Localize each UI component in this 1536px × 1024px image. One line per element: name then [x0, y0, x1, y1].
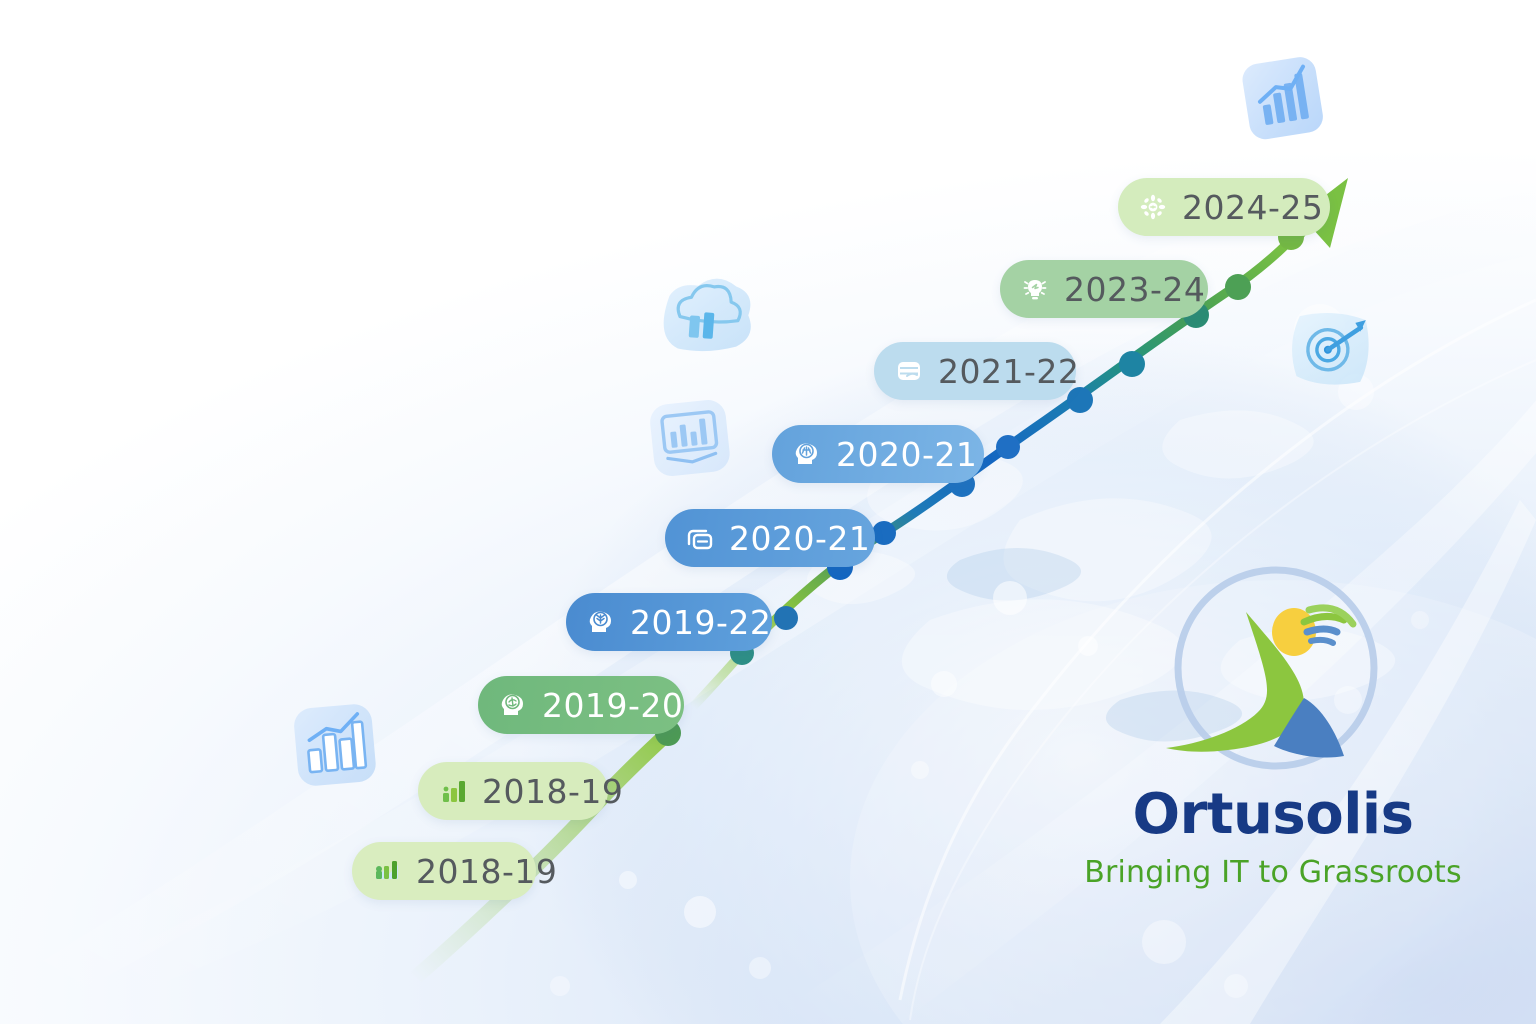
brand-logo-mark — [1108, 560, 1438, 800]
brand-logo[interactable]: Ortusolis Bringing IT to Grassroots — [1108, 560, 1438, 900]
milestone-pill-2019-20[interactable]: 2019-20 — [478, 676, 684, 734]
milestone-label: 2018-19 — [416, 852, 557, 891]
timeline-node — [1119, 351, 1145, 377]
milestone-pill-2018-19-a[interactable]: 2018-19 — [352, 842, 536, 900]
timeline-node — [1067, 387, 1093, 413]
ai-head-icon — [790, 437, 824, 471]
timeline-node — [774, 606, 798, 630]
ai-head-idea-icon — [584, 605, 618, 639]
milestone-label: 2024-25 — [1182, 188, 1323, 227]
milestone-pill-2023-24[interactable]: 2023-24 — [1000, 260, 1208, 318]
milestone-label: 2021-22 — [938, 352, 1079, 391]
bar-chart-icon — [436, 774, 470, 808]
ai-head-icon — [496, 688, 530, 722]
layers-stack-icon — [683, 521, 717, 555]
lightbulb-icon — [1018, 272, 1052, 306]
burst-sparkle-icon — [1136, 190, 1170, 224]
milestone-label: 2020-21 — [729, 519, 870, 558]
timeline-node — [1225, 274, 1251, 300]
milestone-label: 2023-24 — [1064, 270, 1205, 309]
milestone-label: 2018-19 — [482, 772, 623, 811]
timeline-node — [872, 521, 896, 545]
milestone-label: 2019-22 — [630, 603, 771, 642]
milestone-pill-2021-22[interactable]: 2021-22 — [874, 342, 1076, 400]
milestone-label: 2019-20 — [542, 686, 683, 725]
database-card-icon — [892, 354, 926, 388]
milestone-pill-2020-21-a[interactable]: 2020-21 — [665, 509, 875, 567]
milestone-pill-2020-21-b[interactable]: 2020-21 — [772, 425, 984, 483]
infographic-canvas: 2018-19 2018-19 2019-20 — [0, 0, 1536, 1024]
bar-chart-area-icon — [370, 854, 404, 888]
milestone-pill-2024-25[interactable]: 2024-25 — [1118, 178, 1330, 236]
milestone-pill-2019-22[interactable]: 2019-22 — [566, 593, 772, 651]
brand-tagline: Bringing IT to Grassroots — [1028, 855, 1518, 890]
milestone-label: 2020-21 — [836, 435, 977, 474]
brand-name: Ortusolis — [1108, 782, 1438, 847]
timeline-node — [996, 435, 1020, 459]
milestone-pill-2018-19-b[interactable]: 2018-19 — [418, 762, 608, 820]
